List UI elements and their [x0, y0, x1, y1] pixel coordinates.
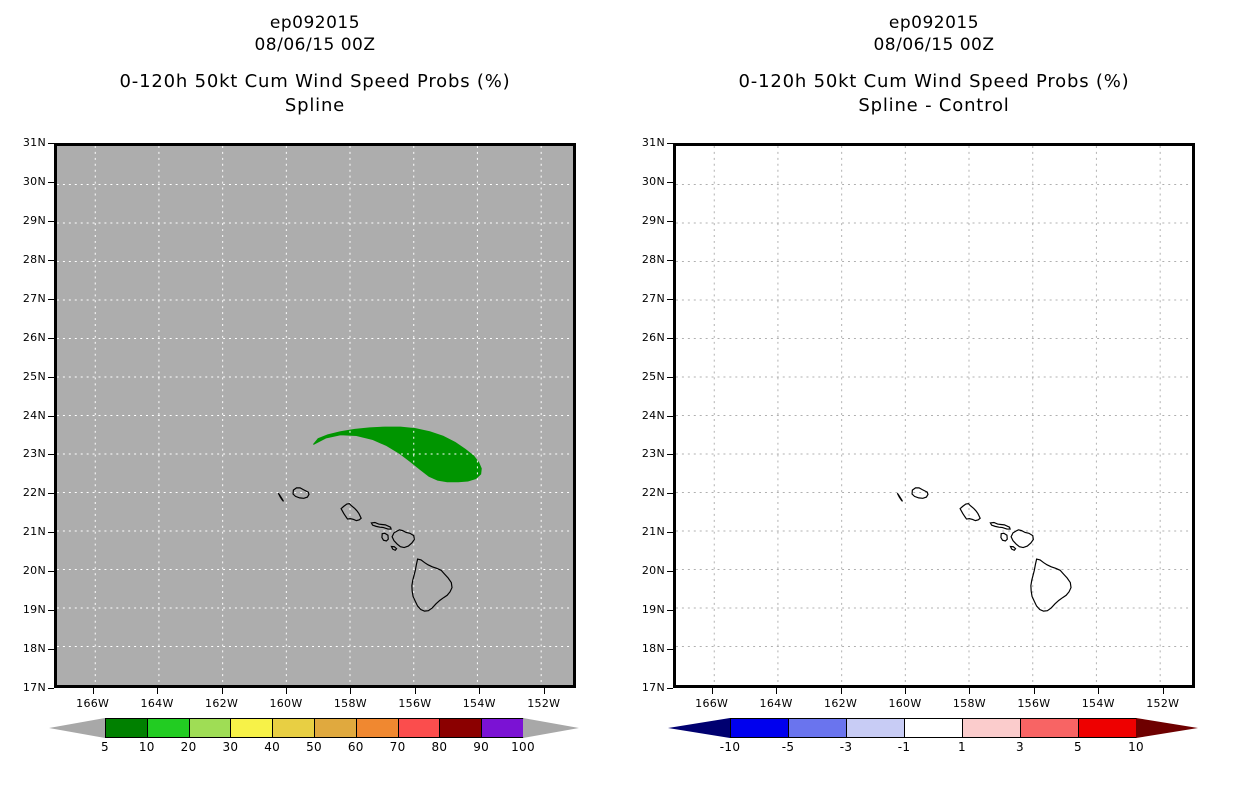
y-tick-label: 18N: [12, 642, 46, 655]
y-tick-label: 19N: [631, 603, 665, 616]
y-tick-label: 18N: [631, 642, 665, 655]
y-tick-mark: [48, 299, 54, 300]
colorbar-tick-label: 30: [210, 740, 250, 754]
map-canvas-spline: [57, 146, 573, 685]
y-tick-mark: [667, 454, 673, 455]
x-tick-mark: [841, 688, 842, 694]
colorbar-swatch[interactable]: [147, 718, 190, 738]
colorbar-swatch[interactable]: [272, 718, 315, 738]
y-tick-label: 23N: [12, 447, 46, 460]
colorbar-swatch[interactable]: [1020, 718, 1079, 738]
colorbar-cells-diff: [730, 718, 1137, 738]
colorbar-swatch[interactable]: [846, 718, 905, 738]
forecast-probability-figure: ep092015 08/06/15 00Z 0-120h 50kt Cum Wi…: [0, 0, 1236, 800]
colorbar-tick-label: 5: [1058, 740, 1098, 754]
x-tick-mark: [415, 688, 416, 694]
x-tick-label: 154W: [1074, 697, 1122, 710]
x-tick-mark: [93, 688, 94, 694]
left-storm-id: ep092015: [115, 12, 515, 34]
y-tick-mark: [667, 221, 673, 222]
y-tick-label: 21N: [631, 525, 665, 538]
x-tick-label: 164W: [133, 697, 181, 710]
y-tick-mark: [667, 182, 673, 183]
colorbar-swatch[interactable]: [730, 718, 789, 738]
y-tick-label: 23N: [631, 447, 665, 460]
left-panel-title-block: ep092015 08/06/15 00Z 0-120h 50kt Cum Wi…: [115, 12, 515, 118]
colorbar-swatch[interactable]: [314, 718, 357, 738]
colorbar-tick-label: 50: [294, 740, 334, 754]
y-tick-mark: [667, 299, 673, 300]
colorbar-tick-label: 80: [419, 740, 459, 754]
x-tick-label: 166W: [688, 697, 736, 710]
x-tick-label: 166W: [69, 697, 117, 710]
y-tick-mark: [48, 260, 54, 261]
y-tick-label: 31N: [631, 136, 665, 149]
x-tick-mark: [969, 688, 970, 694]
y-tick-mark: [667, 532, 673, 533]
colorbar-tick-label: 60: [336, 740, 376, 754]
right-product-title: 0-120h 50kt Cum Wind Speed Probs (%): [734, 70, 1134, 94]
right-panel-title-block: ep092015 08/06/15 00Z 0-120h 50kt Cum Wi…: [734, 12, 1134, 118]
colorbar-tick-label: 70: [378, 740, 418, 754]
y-tick-mark: [667, 610, 673, 611]
colorbar-swatch[interactable]: [1078, 718, 1137, 738]
x-tick-label: 154W: [455, 697, 503, 710]
colorbar-labels-prob: 5102030405060708090100: [49, 740, 579, 760]
colorbar-swatch[interactable]: [398, 718, 441, 738]
y-tick-mark: [667, 493, 673, 494]
x-tick-label: 162W: [817, 697, 865, 710]
y-tick-label: 19N: [12, 603, 46, 616]
colorbar-swatch[interactable]: [439, 718, 482, 738]
y-tick-mark: [48, 454, 54, 455]
y-tick-mark: [48, 493, 54, 494]
colorbar-tick-label: 10: [1116, 740, 1156, 754]
y-tick-mark: [48, 532, 54, 533]
y-tick-mark: [48, 571, 54, 572]
colorbar-tick-label: 20: [169, 740, 209, 754]
map-panel-spline[interactable]: [54, 143, 576, 688]
y-tick-mark: [48, 649, 54, 650]
x-tick-mark: [1034, 688, 1035, 694]
colorbar-swatch[interactable]: [481, 718, 524, 738]
y-tick-mark: [48, 143, 54, 144]
y-tick-label: 29N: [12, 214, 46, 227]
x-tick-mark: [712, 688, 713, 694]
y-tick-label: 17N: [12, 681, 46, 694]
x-tick-label: 160W: [881, 697, 929, 710]
x-tick-mark: [350, 688, 351, 694]
colorbar-left-arrow-prob: [49, 718, 105, 738]
x-tick-label: 160W: [262, 697, 310, 710]
colorbar-tick-label: 5: [85, 740, 125, 754]
map-panel-spline-control[interactable]: [673, 143, 1195, 688]
x-tick-mark: [544, 688, 545, 694]
y-tick-mark: [48, 416, 54, 417]
y-tick-label: 26N: [12, 331, 46, 344]
colorbar-swatch[interactable]: [105, 718, 148, 738]
x-tick-mark: [222, 688, 223, 694]
colorbar-swatch[interactable]: [230, 718, 273, 738]
y-tick-label: 24N: [12, 409, 46, 422]
map-canvas-spline-control: [676, 146, 1192, 685]
y-tick-mark: [48, 688, 54, 689]
y-tick-label: 26N: [631, 331, 665, 344]
x-tick-label: 158W: [326, 697, 374, 710]
x-tick-mark: [776, 688, 777, 694]
y-tick-mark: [667, 377, 673, 378]
y-tick-label: 17N: [631, 681, 665, 694]
x-tick-mark: [1098, 688, 1099, 694]
y-tick-label: 24N: [631, 409, 665, 422]
right-storm-id: ep092015: [734, 12, 1134, 34]
colorbar-right-arrow-prob: [523, 718, 579, 738]
x-tick-mark: [286, 688, 287, 694]
x-tick-label: 156W: [1010, 697, 1058, 710]
y-tick-mark: [667, 416, 673, 417]
colorbar-tick-label: 100: [503, 740, 543, 754]
right-subtitle: Spline - Control: [734, 94, 1134, 118]
colorbar-tick-label: 40: [252, 740, 292, 754]
colorbar-cells-prob: [105, 718, 524, 738]
colorbar-swatch[interactable]: [356, 718, 399, 738]
colorbar-swatch[interactable]: [904, 718, 963, 738]
colorbar-swatch[interactable]: [962, 718, 1021, 738]
x-tick-label: 162W: [198, 697, 246, 710]
y-tick-mark: [48, 338, 54, 339]
y-tick-mark: [48, 610, 54, 611]
y-tick-label: 30N: [12, 175, 46, 188]
y-tick-mark: [48, 221, 54, 222]
y-tick-label: 22N: [631, 486, 665, 499]
y-tick-label: 22N: [12, 486, 46, 499]
colorbar-tick-label: -10: [710, 740, 750, 754]
colorbar-tick-label: 90: [461, 740, 501, 754]
left-subtitle: Spline: [115, 94, 515, 118]
colorbar-left-arrow-diff: [668, 718, 730, 738]
y-tick-label: 20N: [631, 564, 665, 577]
x-tick-mark: [1163, 688, 1164, 694]
y-tick-label: 28N: [12, 253, 46, 266]
y-tick-label: 27N: [12, 292, 46, 305]
x-tick-label: 156W: [391, 697, 439, 710]
colorbar-swatch[interactable]: [788, 718, 847, 738]
y-tick-label: 25N: [12, 370, 46, 383]
colorbar-tick-label: 10: [127, 740, 167, 754]
y-tick-mark: [667, 649, 673, 650]
right-datetime: 08/06/15 00Z: [734, 34, 1134, 56]
colorbar-tick-label: -3: [826, 740, 866, 754]
x-tick-mark: [157, 688, 158, 694]
x-tick-mark: [905, 688, 906, 694]
difference-colorbar[interactable]: -10-5-3-113510: [668, 718, 1198, 763]
colorbar-tick-label: -5: [768, 740, 808, 754]
y-tick-mark: [667, 571, 673, 572]
colorbar-right-arrow-diff: [1136, 718, 1198, 738]
x-tick-mark: [479, 688, 480, 694]
x-tick-label: 158W: [945, 697, 993, 710]
probability-colorbar[interactable]: 5102030405060708090100: [49, 718, 579, 763]
y-tick-label: 29N: [631, 214, 665, 227]
left-product-title: 0-120h 50kt Cum Wind Speed Probs (%): [115, 70, 515, 94]
y-tick-label: 20N: [12, 564, 46, 577]
y-tick-label: 25N: [631, 370, 665, 383]
y-tick-mark: [667, 143, 673, 144]
y-tick-label: 31N: [12, 136, 46, 149]
colorbar-tick-label: -1: [884, 740, 924, 754]
y-tick-mark: [667, 338, 673, 339]
y-tick-label: 27N: [631, 292, 665, 305]
colorbar-tick-label: 1: [942, 740, 982, 754]
x-tick-label: 152W: [520, 697, 568, 710]
y-tick-label: 30N: [631, 175, 665, 188]
x-tick-label: 164W: [752, 697, 800, 710]
colorbar-labels-diff: -10-5-3-113510: [668, 740, 1198, 760]
y-tick-label: 28N: [631, 253, 665, 266]
colorbar-tick-label: 3: [1000, 740, 1040, 754]
left-datetime: 08/06/15 00Z: [115, 34, 515, 56]
x-tick-label: 152W: [1139, 697, 1187, 710]
y-tick-mark: [667, 688, 673, 689]
y-tick-mark: [48, 377, 54, 378]
y-tick-label: 21N: [12, 525, 46, 538]
colorbar-swatch[interactable]: [189, 718, 232, 738]
y-tick-mark: [48, 182, 54, 183]
y-tick-mark: [667, 260, 673, 261]
